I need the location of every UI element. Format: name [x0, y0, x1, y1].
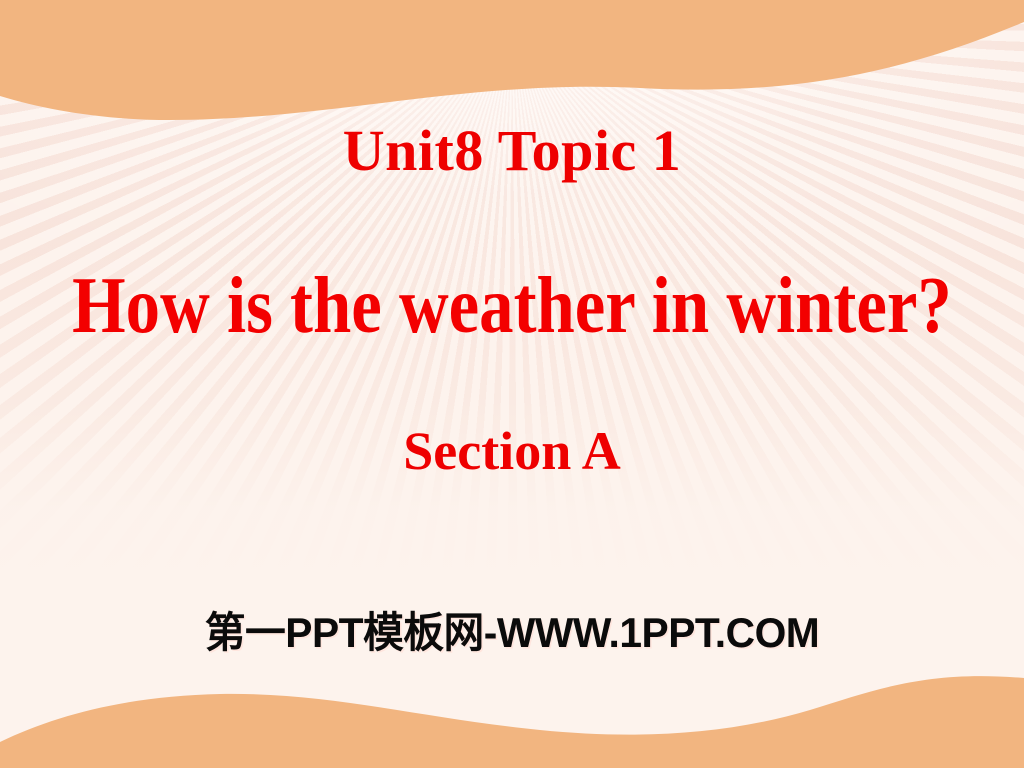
slide-content: Unit8 Topic 1 How is the weather in wint…: [0, 0, 1024, 768]
unit-topic-heading: Unit8 Topic 1: [0, 122, 1024, 180]
section-heading: Section A: [0, 424, 1024, 478]
watermark-text: 第一PPT模板网-WWW.1PPT.COM: [15, 612, 1008, 654]
presentation-slide: Unit8 Topic 1 How is the weather in wint…: [0, 0, 1024, 768]
page-title: How is the weather in winter?: [72, 266, 953, 346]
